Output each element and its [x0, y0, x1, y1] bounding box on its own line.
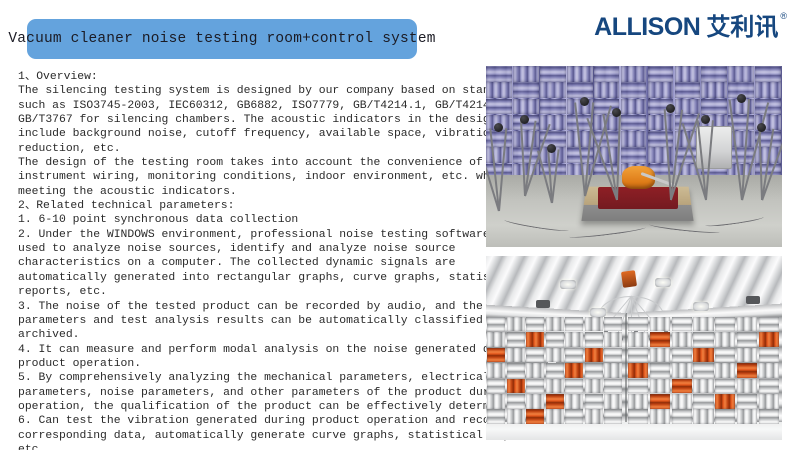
grey-acoustic-wedge-block: [672, 409, 692, 424]
orange-acoustic-wedge-block: [759, 332, 779, 347]
measurement-microphone: [494, 123, 503, 132]
grey-acoustic-wedge-block: [737, 409, 757, 424]
text-line: 5. By comprehensively analyzing the mech…: [18, 371, 473, 385]
grey-acoustic-wedge-block: [585, 363, 603, 378]
acoustic-wedge-tile: [675, 66, 701, 82]
grey-acoustic-wedge-block: [565, 348, 583, 363]
text-line: 3. The noise of the tested product can b…: [18, 300, 473, 314]
acoustic-wedge-tile: [513, 66, 539, 82]
acoustic-wedge-tile: [513, 99, 539, 115]
ceiling-speaker: [746, 296, 760, 304]
grey-acoustic-wedge-block: [628, 332, 648, 347]
acoustic-wedge-tile: [567, 66, 593, 82]
grey-acoustic-wedge-block: [628, 409, 648, 424]
grey-acoustic-wedge-block: [604, 363, 622, 378]
grey-acoustic-wedge-block: [526, 363, 544, 378]
grey-acoustic-wedge-block: [650, 348, 670, 363]
grey-acoustic-wedge-block: [507, 409, 525, 424]
orange-acoustic-wedge-block: [487, 348, 505, 363]
text-line: characteristics on a computer. The colle…: [18, 256, 473, 270]
acoustic-wedge-tile: [594, 66, 620, 82]
text-line: reports, etc.: [18, 285, 473, 299]
grey-acoustic-wedge-block: [715, 363, 735, 378]
grey-acoustic-wedge-block: [565, 317, 583, 332]
orange-acoustic-wedge-block: [585, 348, 603, 363]
grey-acoustic-wedge-block: [650, 409, 670, 424]
text-line: instrument wiring, monitoring conditions…: [18, 170, 473, 184]
acoustic-wedge-tile: [701, 66, 727, 82]
acoustic-wedge-tile: [540, 115, 566, 131]
grey-acoustic-wedge-block: [650, 363, 670, 378]
logo-wordmark: ALLISON: [594, 14, 700, 41]
grey-acoustic-wedge-block: [585, 409, 603, 424]
text-line: 1、Overview:: [18, 70, 473, 84]
text-line: include background noise, cutoff frequen…: [18, 127, 473, 141]
acoustic-wedge-tile: [486, 147, 512, 163]
grey-acoustic-wedge-block: [737, 379, 757, 394]
orange-acoustic-wedge-block: [737, 363, 757, 378]
text-line: The design of the testing room takes int…: [18, 156, 473, 170]
grey-acoustic-wedge-block: [737, 348, 757, 363]
grey-acoustic-wedge-block: [715, 379, 735, 394]
grey-acoustic-wedge-block: [715, 332, 735, 347]
acoustic-wedge-tile: [621, 82, 647, 98]
text-line: parameters, noise parameters, and other …: [18, 386, 473, 400]
orange-acoustic-wedge-block: [650, 394, 670, 409]
acoustic-wedge-tile: [648, 131, 674, 147]
grey-acoustic-wedge-block: [546, 332, 564, 347]
acoustic-wedge-tile: [648, 66, 674, 82]
acoustic-wedge-tile: [594, 82, 620, 98]
grey-acoustic-wedge-block: [672, 317, 692, 332]
acoustic-wedge-tile: [648, 82, 674, 98]
text-line: product operation.: [18, 357, 473, 371]
logo-chinese-name: 艾利讯: [706, 14, 778, 41]
grey-acoustic-wedge-block: [693, 363, 713, 378]
page-title: Vacuum cleaner noise testing room+contro…: [8, 31, 435, 47]
red-test-carpet: [598, 187, 678, 209]
acoustic-wedge-tile: [486, 99, 512, 115]
chamber-corner-line: [625, 313, 627, 425]
ceiling-light: [655, 278, 671, 287]
grey-acoustic-wedge-block: [526, 317, 544, 332]
slide-page: Vacuum cleaner noise testing room+contro…: [0, 0, 800, 450]
anechoic-chamber-vacuum-test-image: [486, 66, 782, 247]
text-line: GB/T3767 for silencing chambers. The aco…: [18, 113, 473, 127]
orange-acoustic-wedge-block: [507, 379, 525, 394]
grey-acoustic-wedge-block: [546, 317, 564, 332]
acoustic-wedge-tile: [540, 66, 566, 82]
acoustic-wedge-tile: [540, 99, 566, 115]
registered-trademark-icon: ®: [780, 12, 787, 21]
grey-acoustic-wedge-block: [672, 363, 692, 378]
acoustic-wedge-tile: [486, 66, 512, 82]
grey-acoustic-wedge-block: [565, 379, 583, 394]
acoustic-wedge-tile: [675, 99, 701, 115]
grey-acoustic-wedge-block: [585, 317, 603, 332]
grey-acoustic-wedge-block: [546, 409, 564, 424]
page-header: Vacuum cleaner noise testing room+contro…: [0, 0, 800, 66]
grey-acoustic-wedge-block: [585, 379, 603, 394]
acoustic-wedge-tile: [675, 82, 701, 98]
grey-acoustic-wedge-block: [693, 394, 713, 409]
text-line: 2、Related technical parameters:: [18, 199, 473, 213]
grey-acoustic-wedge-block: [672, 348, 692, 363]
acoustic-wedge-tile: [513, 131, 539, 147]
semi-anechoic-chamber-interior-image: [486, 256, 782, 440]
grey-acoustic-wedge-block: [650, 379, 670, 394]
grey-acoustic-wedge-block: [585, 394, 603, 409]
grey-acoustic-wedge-block: [759, 394, 779, 409]
title-banner: Vacuum cleaner noise testing room+contro…: [27, 19, 417, 59]
orange-acoustic-wedge-block: [715, 394, 735, 409]
grey-acoustic-wedge-block: [487, 332, 505, 347]
grey-acoustic-wedge-block: [507, 348, 525, 363]
text-line: parameters and test analysis results can…: [18, 314, 473, 328]
grey-acoustic-wedge-block: [546, 363, 564, 378]
grey-acoustic-wedge-block: [693, 379, 713, 394]
acoustic-wedge-tile: [621, 131, 647, 147]
grey-acoustic-wedge-block: [650, 317, 670, 332]
acoustic-wedge-tile: [728, 147, 754, 163]
text-line: 4. It can measure and perform modal anal…: [18, 343, 473, 357]
ceiling-light: [693, 302, 709, 311]
acoustic-wedge-tile: [621, 99, 647, 115]
text-line: used to analyze noise sources, identify …: [18, 242, 473, 256]
text-line: 2. Under the WINDOWS environment, profes…: [18, 228, 473, 242]
acoustic-wedge-tile: [755, 99, 781, 115]
grey-acoustic-wedge-block: [487, 394, 505, 409]
orange-acoustic-wedge-block: [628, 363, 648, 378]
text-line: corresponding data, automatically genera…: [18, 429, 473, 443]
acoustic-wedge-tile: [486, 82, 512, 98]
ceiling-speaker: [536, 300, 550, 308]
measurement-microphone: [737, 94, 746, 103]
ceiling-hanging-fixture: [621, 270, 637, 288]
grey-acoustic-wedge-block: [672, 332, 692, 347]
grey-acoustic-wedge-block: [604, 394, 622, 409]
text-line: etc.: [18, 443, 473, 450]
acoustic-wedge-tile: [648, 115, 674, 131]
grey-acoustic-wedge-block: [507, 332, 525, 347]
measurement-microphone: [580, 97, 589, 106]
acoustic-wedge-tile: [755, 82, 781, 98]
grey-acoustic-wedge-block: [565, 332, 583, 347]
chamber-floor: [486, 422, 782, 440]
acoustic-wedge-tile: [567, 82, 593, 98]
text-line: reduction, etc.: [18, 142, 473, 156]
orange-acoustic-wedge-block: [650, 332, 670, 347]
grey-acoustic-wedge-block: [715, 317, 735, 332]
orange-acoustic-wedge-block: [526, 332, 544, 347]
ceiling-light: [560, 280, 576, 289]
grey-acoustic-wedge-block: [604, 348, 622, 363]
orange-acoustic-wedge-block: [565, 363, 583, 378]
grey-acoustic-wedge-block: [565, 409, 583, 424]
acoustic-wedge-tile: [728, 66, 754, 82]
grey-acoustic-wedge-block: [526, 379, 544, 394]
text-line: archived.: [18, 328, 473, 342]
grey-acoustic-wedge-block: [604, 379, 622, 394]
text-line: 6. Can test the vibration generated duri…: [18, 414, 473, 428]
grey-acoustic-wedge-block: [628, 394, 648, 409]
grey-acoustic-wedge-block: [585, 332, 603, 347]
acoustic-wedge-tile: [648, 147, 674, 163]
grey-acoustic-wedge-block: [604, 332, 622, 347]
acoustic-wedge-tile: [621, 66, 647, 82]
grey-acoustic-wedge-block: [487, 317, 505, 332]
ceiling-light: [590, 308, 606, 317]
grey-acoustic-wedge-block: [737, 317, 757, 332]
grey-acoustic-wedge-block: [759, 317, 779, 332]
text-line: automatically generated into rectangular…: [18, 271, 473, 285]
acoustic-wedge-tile: [540, 82, 566, 98]
acoustic-wedge-tile: [621, 147, 647, 163]
company-logo: ALLISON 艾利讯 ®: [594, 14, 787, 41]
grey-acoustic-wedge-block: [628, 317, 648, 332]
text-line: such as ISO3745-2003, IEC60312, GB6882, …: [18, 99, 473, 113]
orange-acoustic-wedge-block: [526, 409, 544, 424]
grey-acoustic-wedge-block: [507, 363, 525, 378]
measurement-microphone: [757, 123, 766, 132]
grey-acoustic-wedge-block: [487, 379, 505, 394]
grey-acoustic-wedge-block: [546, 348, 564, 363]
measurement-microphone: [666, 104, 675, 113]
grey-acoustic-wedge-block: [715, 409, 735, 424]
orange-acoustic-wedge-block: [672, 379, 692, 394]
grey-acoustic-wedge-block: [565, 394, 583, 409]
grey-acoustic-wedge-block: [737, 332, 757, 347]
text-line: The silencing testing system is designed…: [18, 84, 473, 98]
text-line: meeting the acoustic indicators.: [18, 185, 473, 199]
grey-acoustic-wedge-block: [487, 363, 505, 378]
grey-acoustic-wedge-block: [693, 332, 713, 347]
grey-acoustic-wedge-block: [604, 317, 622, 332]
orange-acoustic-wedge-block: [546, 394, 564, 409]
grey-acoustic-wedge-block: [672, 394, 692, 409]
acoustic-wedge-tile: [701, 99, 727, 115]
grey-acoustic-wedge-block: [526, 394, 544, 409]
acoustic-wedge-tile: [755, 66, 781, 82]
grey-acoustic-wedge-block: [693, 409, 713, 424]
grey-acoustic-wedge-block: [628, 379, 648, 394]
grey-acoustic-wedge-block: [546, 379, 564, 394]
grey-acoustic-wedge-block: [759, 363, 779, 378]
text-line: operation, the qualification of the prod…: [18, 400, 473, 414]
grey-acoustic-wedge-block: [628, 348, 648, 363]
acoustic-wedge-tile: [621, 115, 647, 131]
orange-acoustic-wedge-block: [693, 348, 713, 363]
grey-acoustic-wedge-block: [526, 348, 544, 363]
grey-acoustic-wedge-block: [759, 409, 779, 424]
grey-acoustic-wedge-block: [759, 348, 779, 363]
grey-acoustic-wedge-block: [604, 409, 622, 424]
text-line: 1. 6-10 point synchronous data collectio…: [18, 213, 473, 227]
grey-acoustic-wedge-block: [507, 317, 525, 332]
acoustic-wedge-tile: [513, 82, 539, 98]
description-text-block: 1、Overview:The silencing testing system …: [18, 70, 473, 450]
grey-acoustic-wedge-block: [693, 317, 713, 332]
grey-acoustic-wedge-block: [715, 348, 735, 363]
semi-anechoic-chamber-scene: [486, 256, 782, 440]
grey-acoustic-wedge-block: [737, 394, 757, 409]
grey-acoustic-wedge-block: [507, 394, 525, 409]
acoustic-wedge-tile: [701, 82, 727, 98]
anechoic-chamber-scene: [486, 66, 782, 247]
grey-acoustic-wedge-block: [759, 379, 779, 394]
grey-acoustic-wedge-block: [487, 409, 505, 424]
